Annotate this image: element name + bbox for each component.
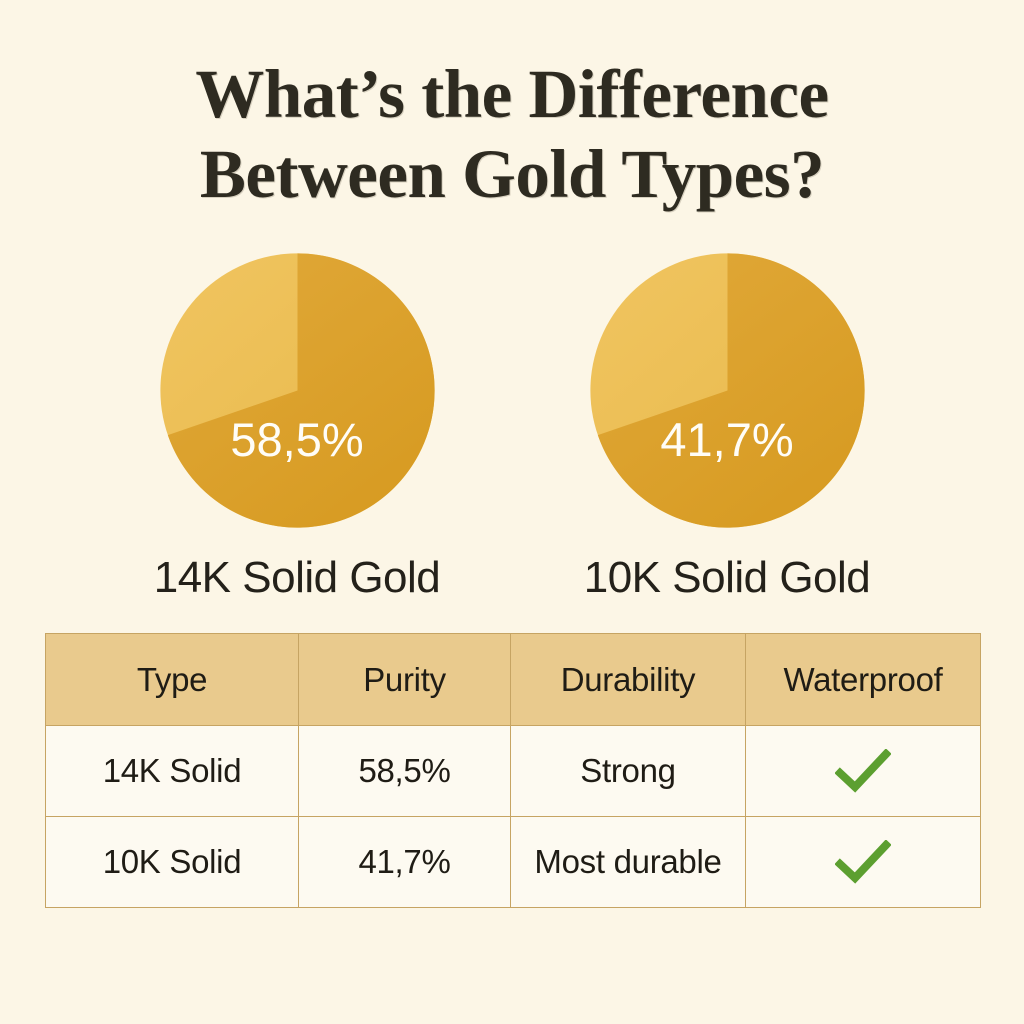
table-header-waterproof: Waterproof <box>746 634 981 726</box>
chart-unit-10k: 41,7% 10K Solid Gold <box>512 252 942 603</box>
cell-durability: Strong <box>511 726 746 817</box>
pie-caption-10k: 10K Solid Gold <box>512 553 942 603</box>
table-header-durability: Durability <box>511 634 746 726</box>
table-header-type: Type <box>46 634 299 726</box>
page-title-line-1: What’s the Difference <box>0 54 1024 134</box>
page-title-line-2: Between Gold Types? <box>0 134 1024 214</box>
table-row: 10K Solid 41,7% Most durable <box>46 817 981 908</box>
pie-chart-14k-svg <box>159 252 436 529</box>
cell-type: 10K Solid <box>46 817 299 908</box>
page-title: What’s the Difference Between Gold Types… <box>0 54 1024 214</box>
table-header-row: Type Purity Durability Waterproof <box>46 634 981 726</box>
pie-chart-14k: 58,5% <box>159 252 436 529</box>
cell-purity: 41,7% <box>299 817 511 908</box>
chart-unit-14k: 58,5% 14K Solid Gold <box>82 252 512 603</box>
pie-charts-row: 58,5% 14K Solid Gold 41,7% <box>0 252 1024 602</box>
pie-chart-10k: 41,7% <box>589 252 866 529</box>
table-row: 14K Solid 58,5% Strong <box>46 726 981 817</box>
cell-type: 14K Solid <box>46 726 299 817</box>
pie-chart-10k-svg <box>589 252 866 529</box>
cell-waterproof <box>746 726 981 817</box>
check-icon <box>835 840 891 884</box>
cell-durability: Most durable <box>511 817 746 908</box>
comparison-table: Type Purity Durability Waterproof 14K So… <box>45 633 981 908</box>
pie-caption-14k: 14K Solid Gold <box>82 553 512 603</box>
table-header-purity: Purity <box>299 634 511 726</box>
cell-waterproof <box>746 817 981 908</box>
check-icon <box>835 749 891 793</box>
cell-purity: 58,5% <box>299 726 511 817</box>
